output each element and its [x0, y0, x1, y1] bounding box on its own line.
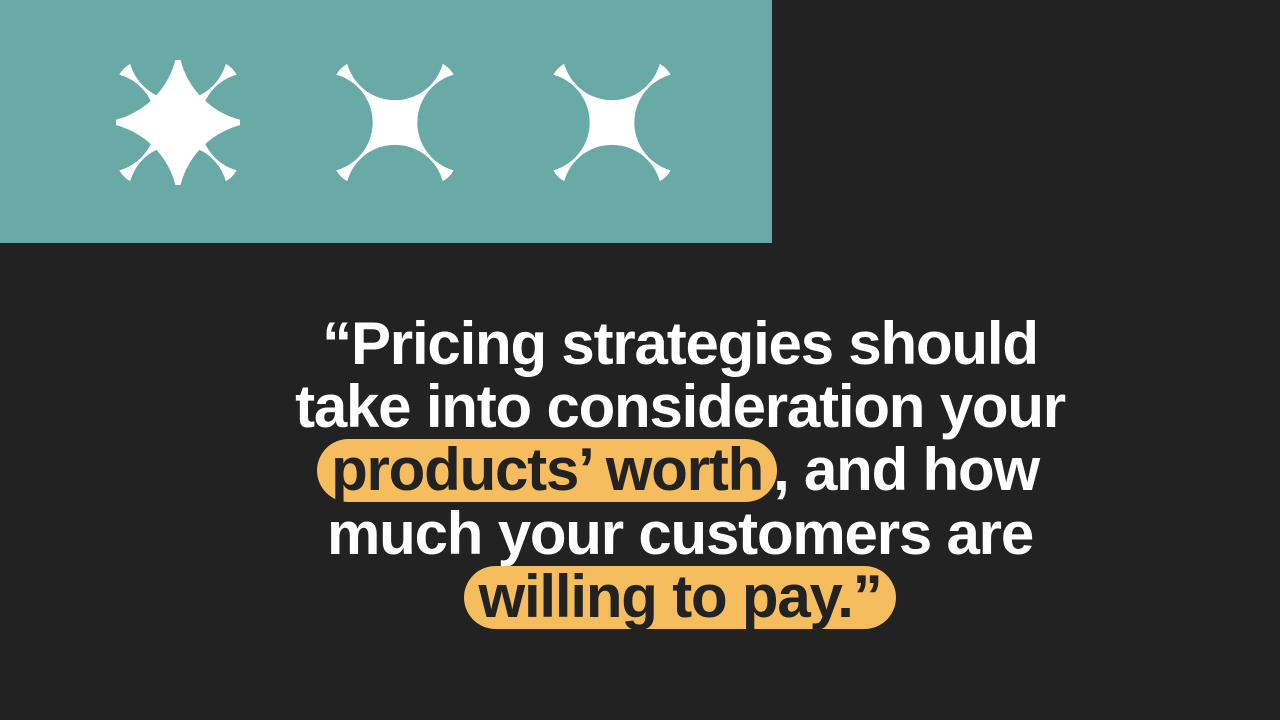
quote-highlight-segment: products’ worth	[317, 439, 777, 502]
quote-segment: take into consideration your	[295, 373, 1065, 440]
quote-highlight-segment: willing to pay.”	[464, 566, 895, 629]
quote-slide: “Pricing strategies should take into con…	[0, 0, 1280, 720]
quote-line: willing to pay.”	[40, 565, 1280, 629]
quote-text-block: “Pricing strategies should take into con…	[40, 312, 1280, 629]
four-petal-x-mark-icon	[333, 60, 457, 185]
quote-segment: , and how	[773, 436, 1039, 503]
quote-segment: much your customers are	[327, 500, 1033, 567]
decorative-teal-band	[0, 0, 772, 243]
four-petal-x-mark-icon	[116, 60, 240, 185]
quote-line: “Pricing strategies should	[40, 312, 1280, 375]
four-petal-x-mark-icon	[550, 60, 674, 185]
quote-segment: “Pricing strategies should	[322, 310, 1038, 377]
quote-line: take into consideration your	[40, 375, 1280, 438]
quote-line: much your customers are	[40, 502, 1280, 565]
quote-line: products’ worth, and how	[40, 438, 1280, 502]
decorative-mark-row	[116, 60, 674, 185]
